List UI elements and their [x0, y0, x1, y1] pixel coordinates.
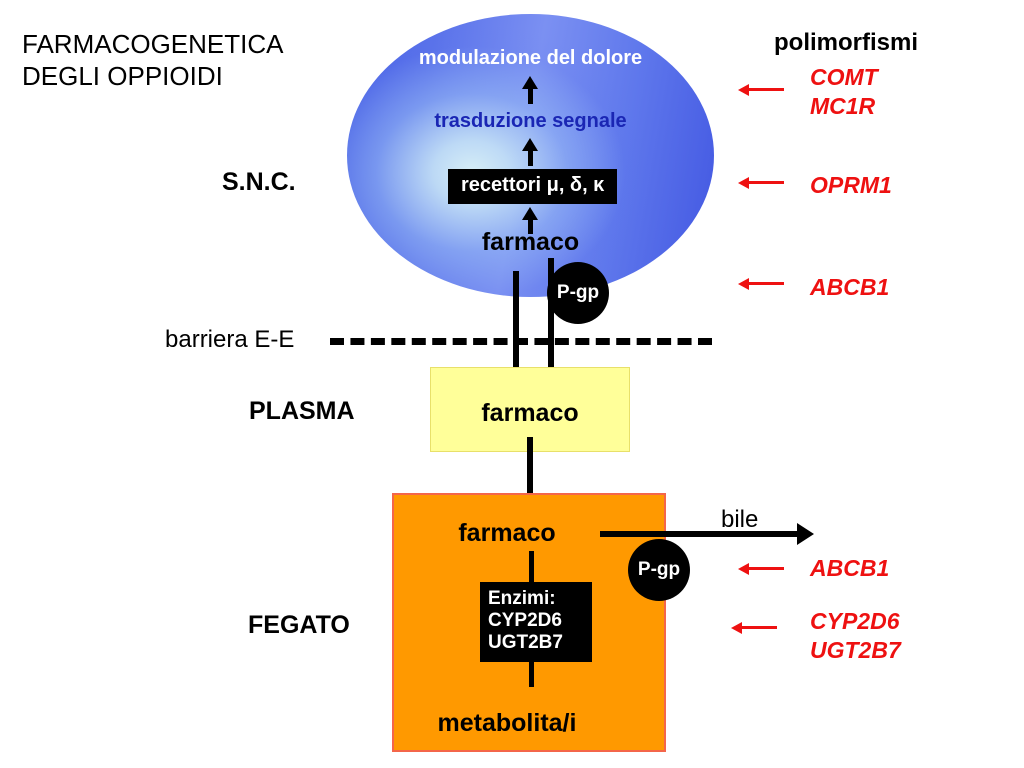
arrow-bile-head	[797, 523, 814, 545]
arrow-enzymes-to-metabolites-shaft	[529, 660, 534, 687]
blood-brain-barrier-line	[330, 338, 712, 345]
opioid-receptors-box: recettori μ, δ, κ	[448, 169, 617, 204]
pointer-arrow-abcb1-brain-icon	[738, 277, 786, 291]
polymorphism-label-comt-mc1r: COMT MC1R	[810, 63, 878, 121]
polymorphism-label-cyp2d6-ugt2b7: CYP2D6 UGT2B7	[810, 607, 901, 665]
diagram-canvas: FARMACOGENETICA DEGLI OPPIOIDI modulazio…	[0, 0, 1024, 768]
page-title: FARMACOGENETICA DEGLI OPPIOIDI	[22, 28, 283, 92]
pointer-arrow-comt-icon	[738, 83, 786, 97]
polymorphism-label-oprm1: OPRM1	[810, 171, 892, 200]
polymorphism-label-abcb1-brain: ABCB1	[810, 273, 889, 302]
arrow-drug-to-receptors-head	[522, 207, 538, 220]
pointer-arrow-oprm1-icon	[738, 176, 786, 190]
arrow-bile-shaft	[600, 531, 799, 537]
arrow-drug-to-enzymes-shaft	[529, 551, 534, 586]
pain-modulation-label: modulazione del dolore	[347, 47, 714, 70]
polymorphism-label-abcb1-liver: ABCB1	[810, 554, 889, 583]
plasma-drug-label: farmaco	[430, 399, 630, 428]
liver-compartment-label: FEGATO	[248, 611, 350, 640]
metabolizing-enzymes-box: Enzimi: CYP2D6 UGT2B7	[480, 582, 592, 662]
pgp-liver-transporter: P-gp	[628, 539, 690, 601]
signal-transduction-label: trasduzione segnale	[347, 110, 714, 133]
arrow-transduction-to-modulation-head	[522, 76, 538, 89]
arrow-receptors-to-transduction-head	[522, 138, 538, 151]
plasma-compartment-label: PLASMA	[249, 397, 355, 426]
pointer-arrow-abcb1-liver-icon	[738, 562, 786, 576]
polymorphisms-heading: polimorfismi	[774, 29, 918, 57]
pgp-brain-transporter: P-gp	[547, 262, 609, 324]
blood-brain-barrier-label: barriera E-E	[165, 326, 294, 354]
liver-drug-label: farmaco	[392, 519, 622, 548]
cns-compartment-label: S.N.C.	[222, 168, 296, 197]
cns-drug-label: farmaco	[347, 228, 714, 257]
arrow-transduction-to-modulation-shaft	[528, 88, 533, 104]
pointer-arrow-cyp2d6-ugt2b7-icon	[731, 621, 779, 635]
arrow-receptors-to-transduction-shaft	[528, 150, 533, 166]
metabolites-label: metabolita/i	[392, 709, 622, 738]
bile-label: bile	[721, 506, 758, 534]
